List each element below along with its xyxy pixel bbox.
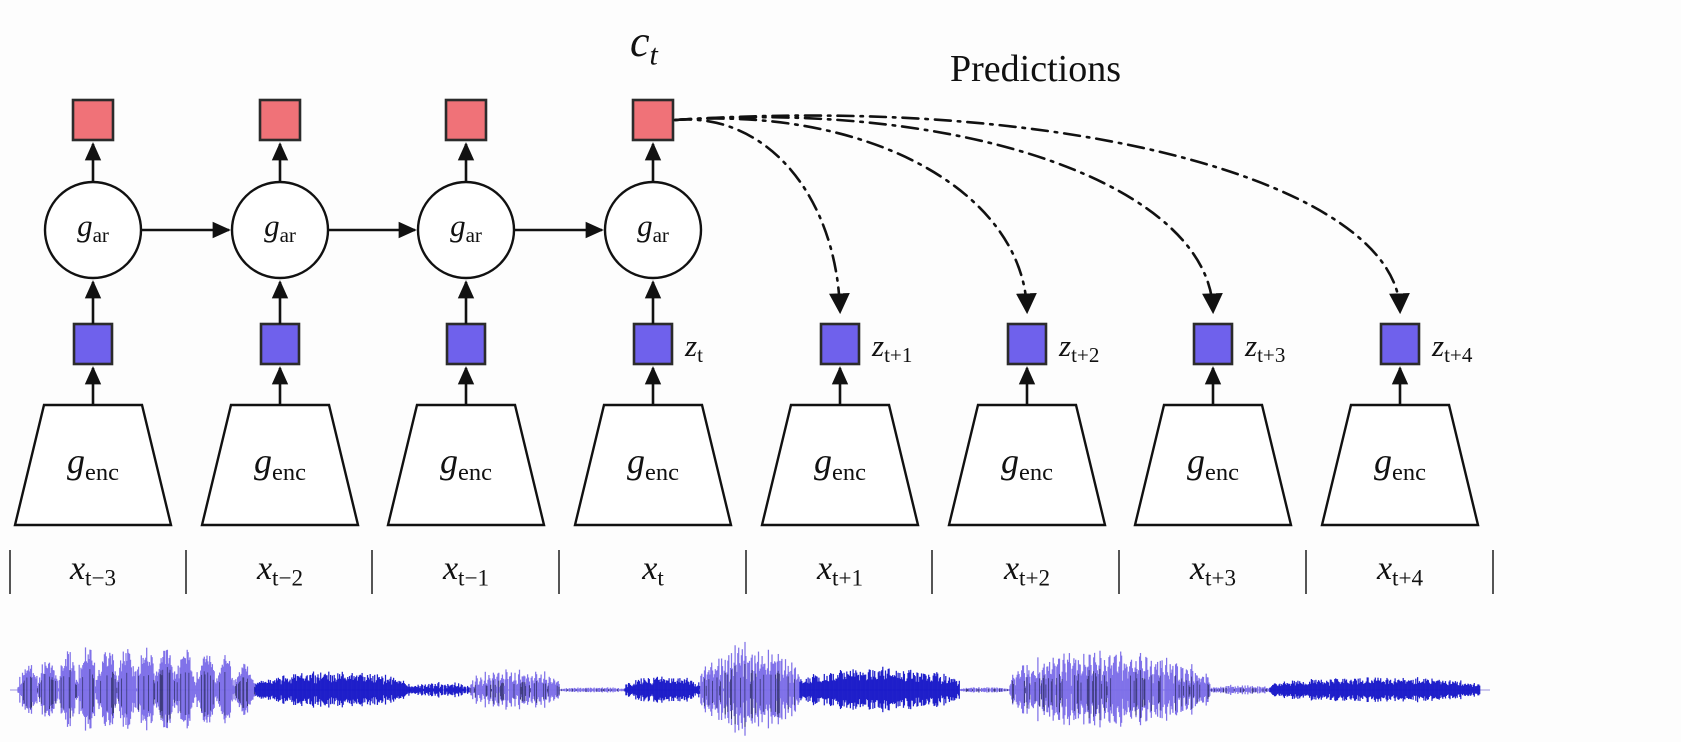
waveform-segment bbox=[18, 647, 255, 730]
predictions-label: Predictions bbox=[950, 47, 1121, 91]
context-vector-label: ct bbox=[630, 16, 658, 72]
latent-square bbox=[447, 324, 485, 364]
encoder-label-subscript: enc bbox=[832, 459, 866, 486]
encoder-label-base: g bbox=[627, 441, 645, 481]
waveform-segment bbox=[700, 642, 800, 736]
waveform-segment bbox=[625, 677, 700, 703]
encoder-label: genc bbox=[1187, 440, 1239, 487]
latent-square bbox=[1381, 324, 1419, 364]
input-label-base: x bbox=[70, 550, 85, 587]
encoder-label: genc bbox=[67, 440, 119, 487]
autoregressive-label-base: g bbox=[637, 208, 653, 243]
ct-subscript: t bbox=[650, 38, 658, 71]
latent-label: zt+3 bbox=[1245, 328, 1285, 368]
encoder-label: genc bbox=[1001, 440, 1053, 487]
input-label: xt+3 bbox=[1190, 550, 1236, 592]
prediction-arc bbox=[675, 116, 1400, 310]
latent-square bbox=[634, 324, 672, 364]
input-label: xt bbox=[642, 550, 664, 592]
encoder-label: genc bbox=[440, 440, 492, 487]
autoregressive-label-subscript: ar bbox=[280, 223, 296, 247]
input-label-base: x bbox=[1190, 550, 1205, 587]
encoder-label: genc bbox=[1374, 440, 1426, 487]
latent-label: zt+2 bbox=[1059, 328, 1099, 368]
latent-label-subscript: t+2 bbox=[1071, 343, 1099, 367]
input-label: xt+2 bbox=[1004, 550, 1050, 592]
latent-square bbox=[74, 324, 112, 364]
latent-label-base: z bbox=[1245, 328, 1257, 363]
prediction-arcs bbox=[675, 116, 1400, 310]
latent-label-base: z bbox=[1059, 328, 1071, 363]
latent-label-subscript: t+3 bbox=[1257, 343, 1285, 367]
encoder-label-base: g bbox=[1001, 441, 1019, 481]
autoregressive-label-subscript: ar bbox=[93, 223, 109, 247]
encoder-label-subscript: enc bbox=[458, 459, 492, 486]
autoregressive-label-base: g bbox=[77, 208, 93, 243]
waveform-segment bbox=[800, 667, 959, 712]
input-label-base: x bbox=[817, 550, 832, 587]
latent-label-base: z bbox=[1432, 328, 1444, 363]
autoregressive-label: gar bbox=[77, 208, 109, 248]
waveform-segment bbox=[255, 671, 410, 707]
waveform-segment bbox=[1010, 651, 1210, 728]
context-square bbox=[633, 100, 673, 140]
diagram-svg bbox=[0, 0, 1681, 742]
latent-square bbox=[261, 324, 299, 364]
input-label: xt−3 bbox=[70, 550, 116, 592]
encoder-label-base: g bbox=[67, 441, 85, 481]
diagram-canvas: ct Predictions gencgarxt−3gencgarxt−2gen… bbox=[0, 0, 1681, 742]
latent-label: zt+1 bbox=[872, 328, 912, 368]
autoregressive-label: gar bbox=[450, 208, 482, 248]
waveform-group bbox=[10, 642, 1490, 736]
latent-label: zt+4 bbox=[1432, 328, 1472, 368]
encoder-label-subscript: enc bbox=[1019, 459, 1053, 486]
latent-label-subscript: t+4 bbox=[1444, 343, 1472, 367]
waveform-segment bbox=[1210, 685, 1269, 695]
encoder-label-subscript: enc bbox=[272, 459, 306, 486]
latent-square bbox=[1008, 324, 1046, 364]
encoder-label-subscript: enc bbox=[645, 459, 679, 486]
latent-label-base: z bbox=[685, 328, 697, 363]
input-label-base: x bbox=[1004, 550, 1019, 587]
latent-square bbox=[1194, 324, 1232, 364]
waveform-segment bbox=[1270, 677, 1480, 702]
prediction-arc bbox=[675, 119, 1027, 310]
latent-square bbox=[821, 324, 859, 364]
latent-label-base: z bbox=[872, 328, 884, 363]
input-label-subscript: t+1 bbox=[832, 565, 863, 591]
autoregressive-label: gar bbox=[264, 208, 296, 248]
input-label-subscript: t+2 bbox=[1019, 565, 1050, 591]
encoder-label: genc bbox=[254, 440, 306, 487]
autoregressive-label-subscript: ar bbox=[653, 223, 669, 247]
latent-label-subscript: t+1 bbox=[884, 343, 912, 367]
input-label: xt−2 bbox=[257, 550, 303, 592]
ct-base: c bbox=[630, 17, 650, 66]
input-label-subscript: t−3 bbox=[85, 565, 116, 591]
encoder-label-subscript: enc bbox=[1392, 459, 1426, 486]
autoregressive-label-subscript: ar bbox=[466, 223, 482, 247]
waveform-segment bbox=[470, 669, 560, 709]
context-square bbox=[73, 100, 113, 140]
input-label-base: x bbox=[257, 550, 272, 587]
encoder-label-base: g bbox=[254, 441, 272, 481]
autoregressive-label: gar bbox=[637, 208, 669, 248]
encoder-label-base: g bbox=[1187, 441, 1205, 481]
input-label: xt−1 bbox=[443, 550, 489, 592]
input-label-subscript: t−2 bbox=[272, 565, 303, 591]
input-label: xt+4 bbox=[1377, 550, 1423, 592]
encoder-label-base: g bbox=[814, 441, 832, 481]
encoder-label: genc bbox=[814, 440, 866, 487]
input-label-base: x bbox=[642, 550, 657, 587]
autoregressive-label-base: g bbox=[264, 208, 280, 243]
waveform-segment bbox=[960, 687, 1010, 693]
input-label-base: x bbox=[443, 550, 458, 587]
waveform-segment bbox=[560, 687, 625, 692]
encoder-label-subscript: enc bbox=[85, 459, 119, 486]
timestep-separators bbox=[10, 550, 1493, 594]
encoder-label-subscript: enc bbox=[1205, 459, 1239, 486]
latent-label-subscript: t bbox=[697, 343, 703, 367]
autoregressive-label-base: g bbox=[450, 208, 466, 243]
context-square bbox=[260, 100, 300, 140]
latent-label: zt bbox=[685, 328, 703, 368]
waveform-segment bbox=[410, 682, 469, 697]
encoder-label-base: g bbox=[1374, 441, 1392, 481]
input-label-subscript: t+4 bbox=[1392, 565, 1423, 591]
encoder-label: genc bbox=[627, 440, 679, 487]
input-label-subscript: t bbox=[657, 565, 663, 591]
input-label-subscript: t−1 bbox=[458, 565, 489, 591]
context-square bbox=[446, 100, 486, 140]
input-label-base: x bbox=[1377, 550, 1392, 587]
input-label: xt+1 bbox=[817, 550, 863, 592]
encoder-label-base: g bbox=[440, 441, 458, 481]
input-label-subscript: t+3 bbox=[1205, 565, 1236, 591]
network-structure bbox=[15, 100, 1478, 525]
